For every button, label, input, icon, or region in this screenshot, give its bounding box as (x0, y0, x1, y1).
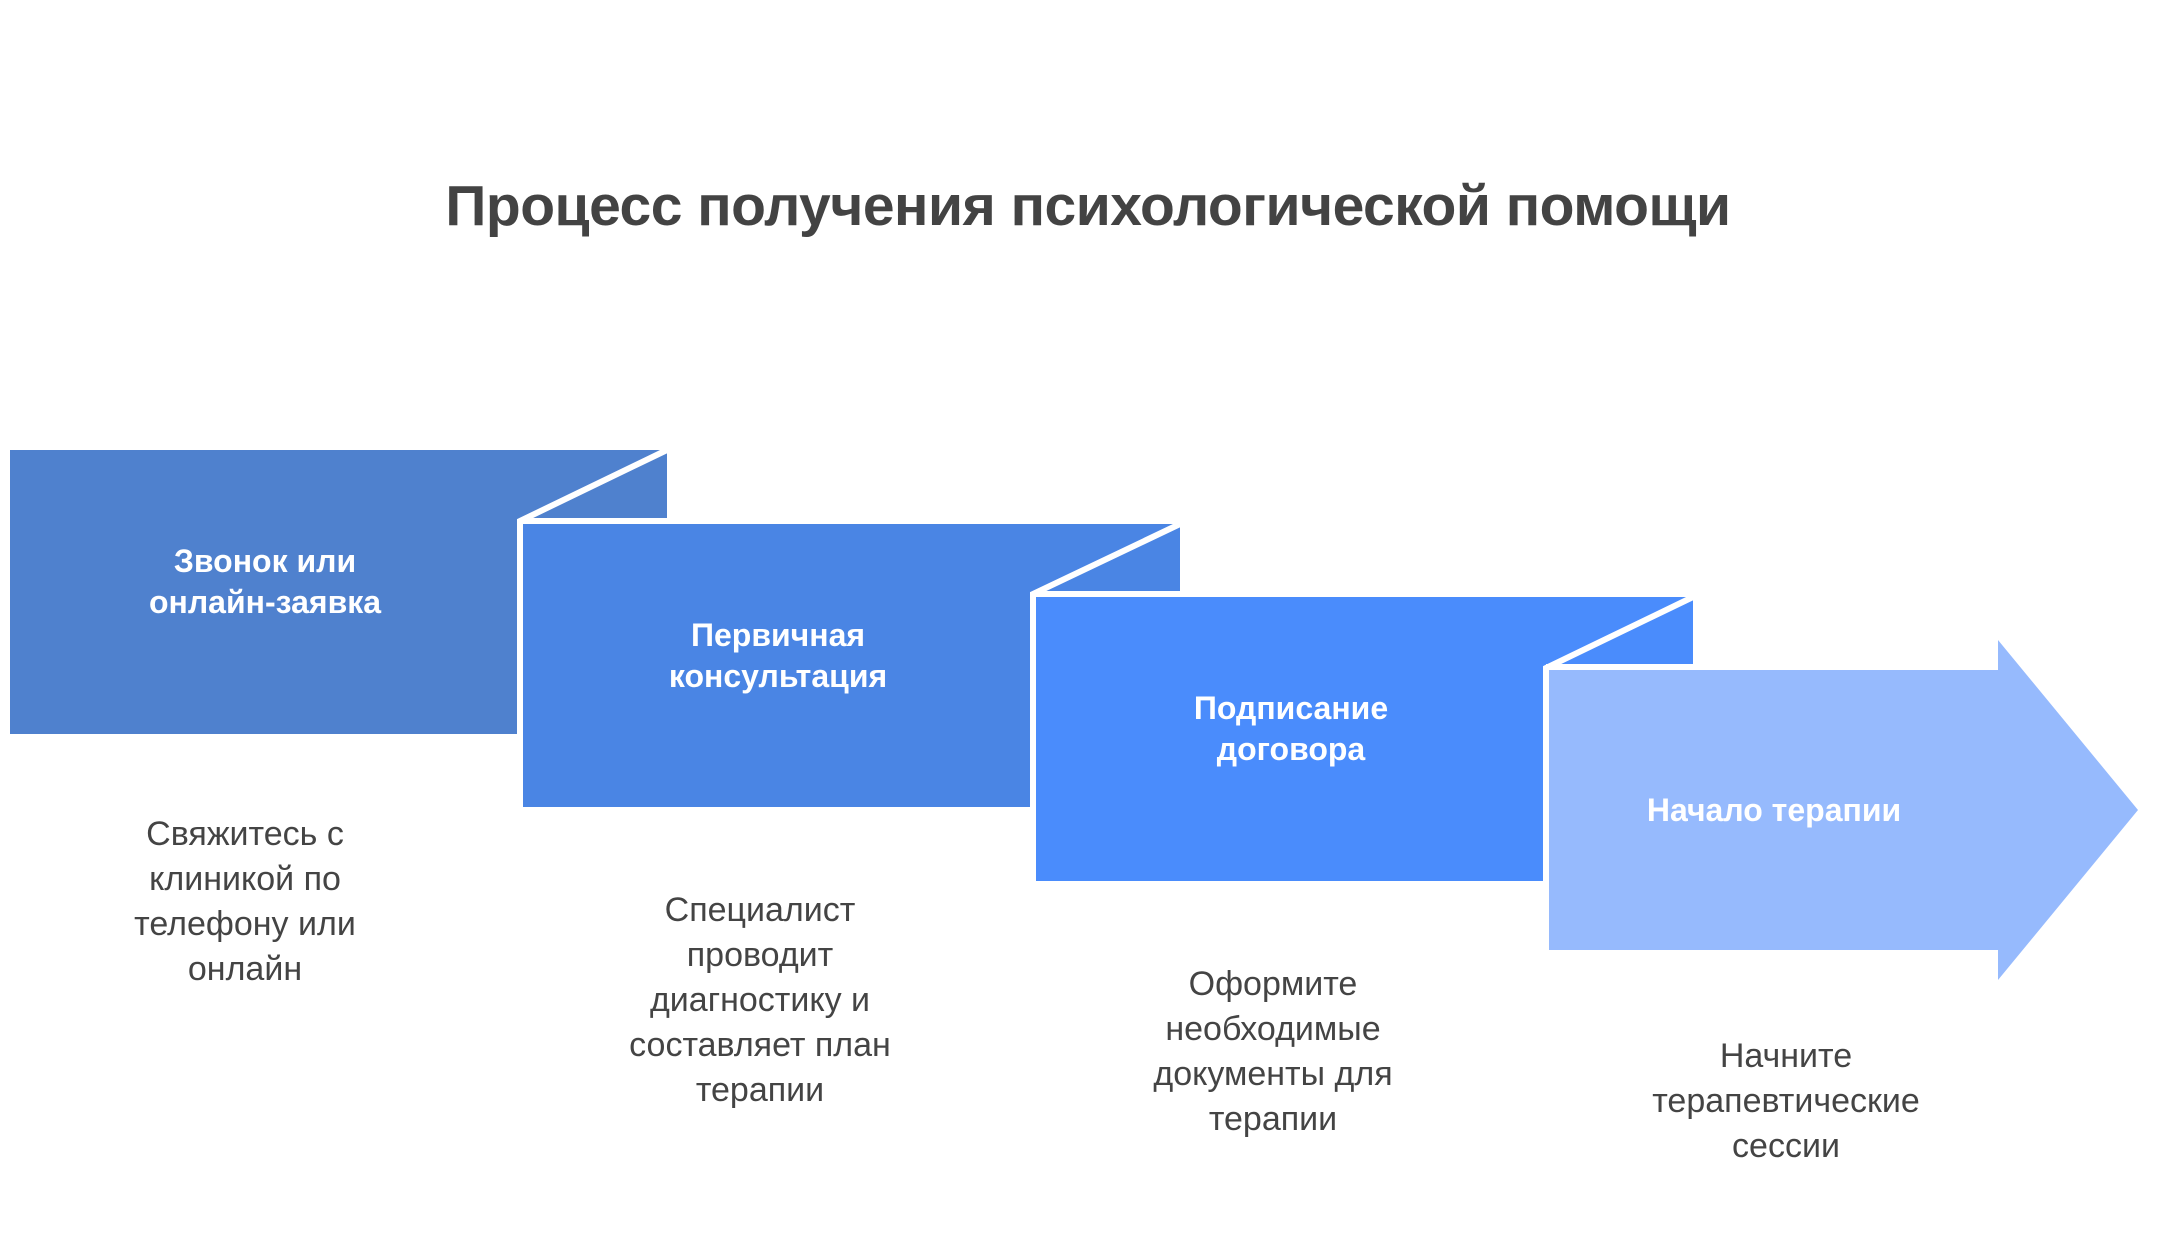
step-caption-3: Оформите необходимые документы для терап… (1058, 962, 1488, 1142)
process-step-shape-4[interactable] (1549, 640, 2138, 980)
step-caption-1: Свяжитесь с клиникой по телефону или онл… (30, 812, 460, 992)
step-caption-4: Начните терапевтические сессии (1571, 1034, 2001, 1169)
slide-canvas: Процесс получения психологической помощи (0, 0, 2176, 1256)
arrow-step-4[interactable] (1549, 640, 2138, 980)
step-caption-2: Специалист проводит диагностику и состав… (545, 888, 975, 1112)
